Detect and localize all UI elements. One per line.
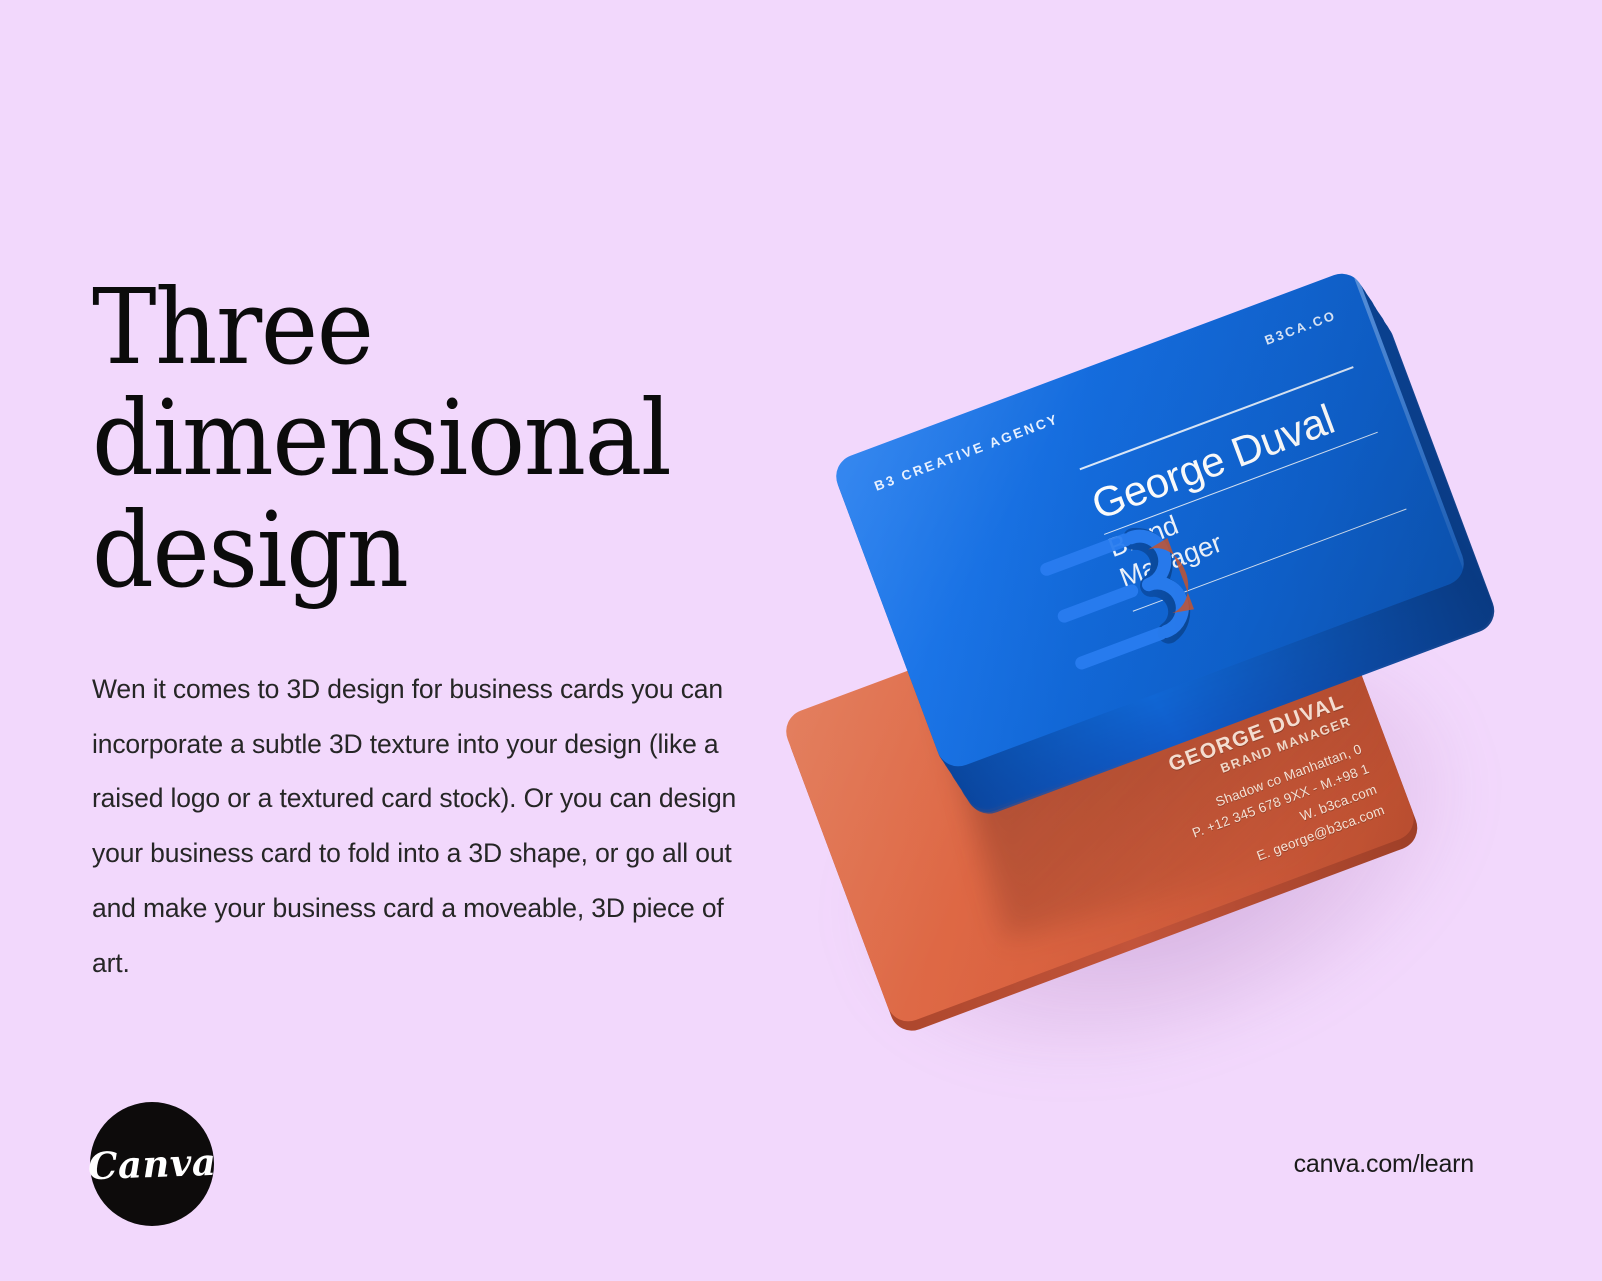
blue-card-agency-label: B3 CREATIVE AGENCY — [872, 411, 1061, 494]
canva-wordmark: Canva — [87, 1140, 217, 1188]
blue-card-domain-label: B3CA.CO — [1263, 307, 1339, 347]
text-column: Three dimensional design Wen it comes to… — [92, 272, 752, 991]
poster-canvas: Three dimensional design Wen it comes to… — [0, 0, 1602, 1281]
business-card-mockup-image: GEORGE DUVAL BRAND MANAGER Shadow co Man… — [800, 250, 1590, 1070]
footer-url-link[interactable]: canva.com/learn — [1294, 1150, 1474, 1179]
canva-logo[interactable]: Canva — [90, 1102, 214, 1226]
body-paragraph: Wen it comes to 3D design for business c… — [92, 662, 742, 991]
page-title: Three dimensional design — [92, 272, 706, 606]
